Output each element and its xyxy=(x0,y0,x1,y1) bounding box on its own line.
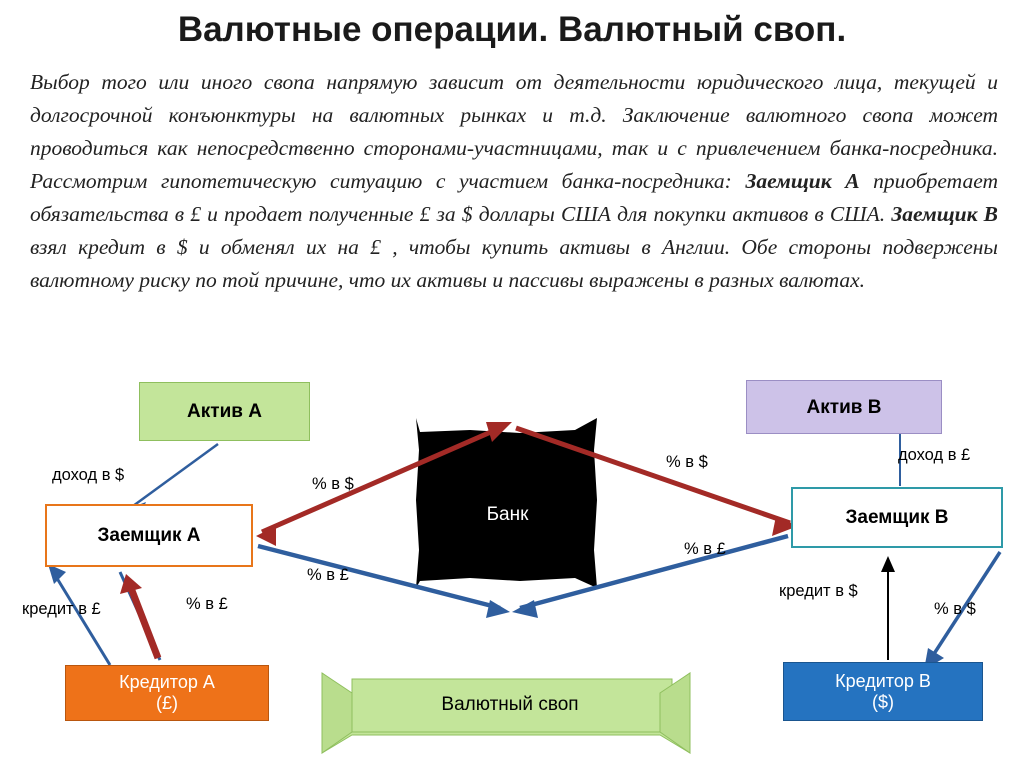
label-credit-gbp: кредит в £ xyxy=(22,600,101,619)
label-pct-usd-left: % в $ xyxy=(312,475,354,494)
node-asset-a: Актив А xyxy=(139,382,310,441)
node-bank: Банк xyxy=(420,500,595,530)
label-income-gbp: доход в £ xyxy=(898,446,970,465)
label-credit-usd: кредит в $ xyxy=(779,582,858,601)
creditor-b-name: Кредитор В xyxy=(835,671,931,692)
slide-canvas: Валютные операции. Валютный своп. Выбор … xyxy=(0,0,1024,769)
label-pct-gbp-right: % в £ xyxy=(684,540,726,559)
arrow-creditor-a-to-borrower-a xyxy=(120,574,158,658)
label-income-usd: доход в $ xyxy=(52,466,124,485)
creditor-a-currency: (£) xyxy=(156,693,178,714)
body-paragraph: Выбор того или иного свопа напрямую зави… xyxy=(30,66,998,297)
currency-swap-diagram: Актив А Актив В Заемщик А Заемщик В Кред… xyxy=(0,360,1024,769)
label-pct-usd-lower-right: % в $ xyxy=(934,600,976,619)
node-borrower-b: Заемщик В xyxy=(791,487,1003,548)
page-title: Валютные операции. Валютный своп. xyxy=(0,10,1024,50)
label-pct-usd-right: % в $ xyxy=(666,453,708,472)
ribbon-banner-label: Валютный своп xyxy=(390,685,630,725)
node-asset-b: Актив В xyxy=(746,380,942,434)
node-creditor-b: Кредитор В ($) xyxy=(783,662,983,721)
arrow-credit-usd-to-borrower-b xyxy=(881,556,895,660)
creditor-a-name: Кредитор А xyxy=(119,672,215,693)
label-pct-gbp-lower-left: % в £ xyxy=(186,595,228,614)
node-creditor-a: Кредитор А (£) xyxy=(65,665,269,721)
label-pct-gbp-left: % в £ xyxy=(307,566,349,585)
creditor-b-currency: ($) xyxy=(872,692,894,713)
node-borrower-a: Заемщик А xyxy=(45,504,253,567)
